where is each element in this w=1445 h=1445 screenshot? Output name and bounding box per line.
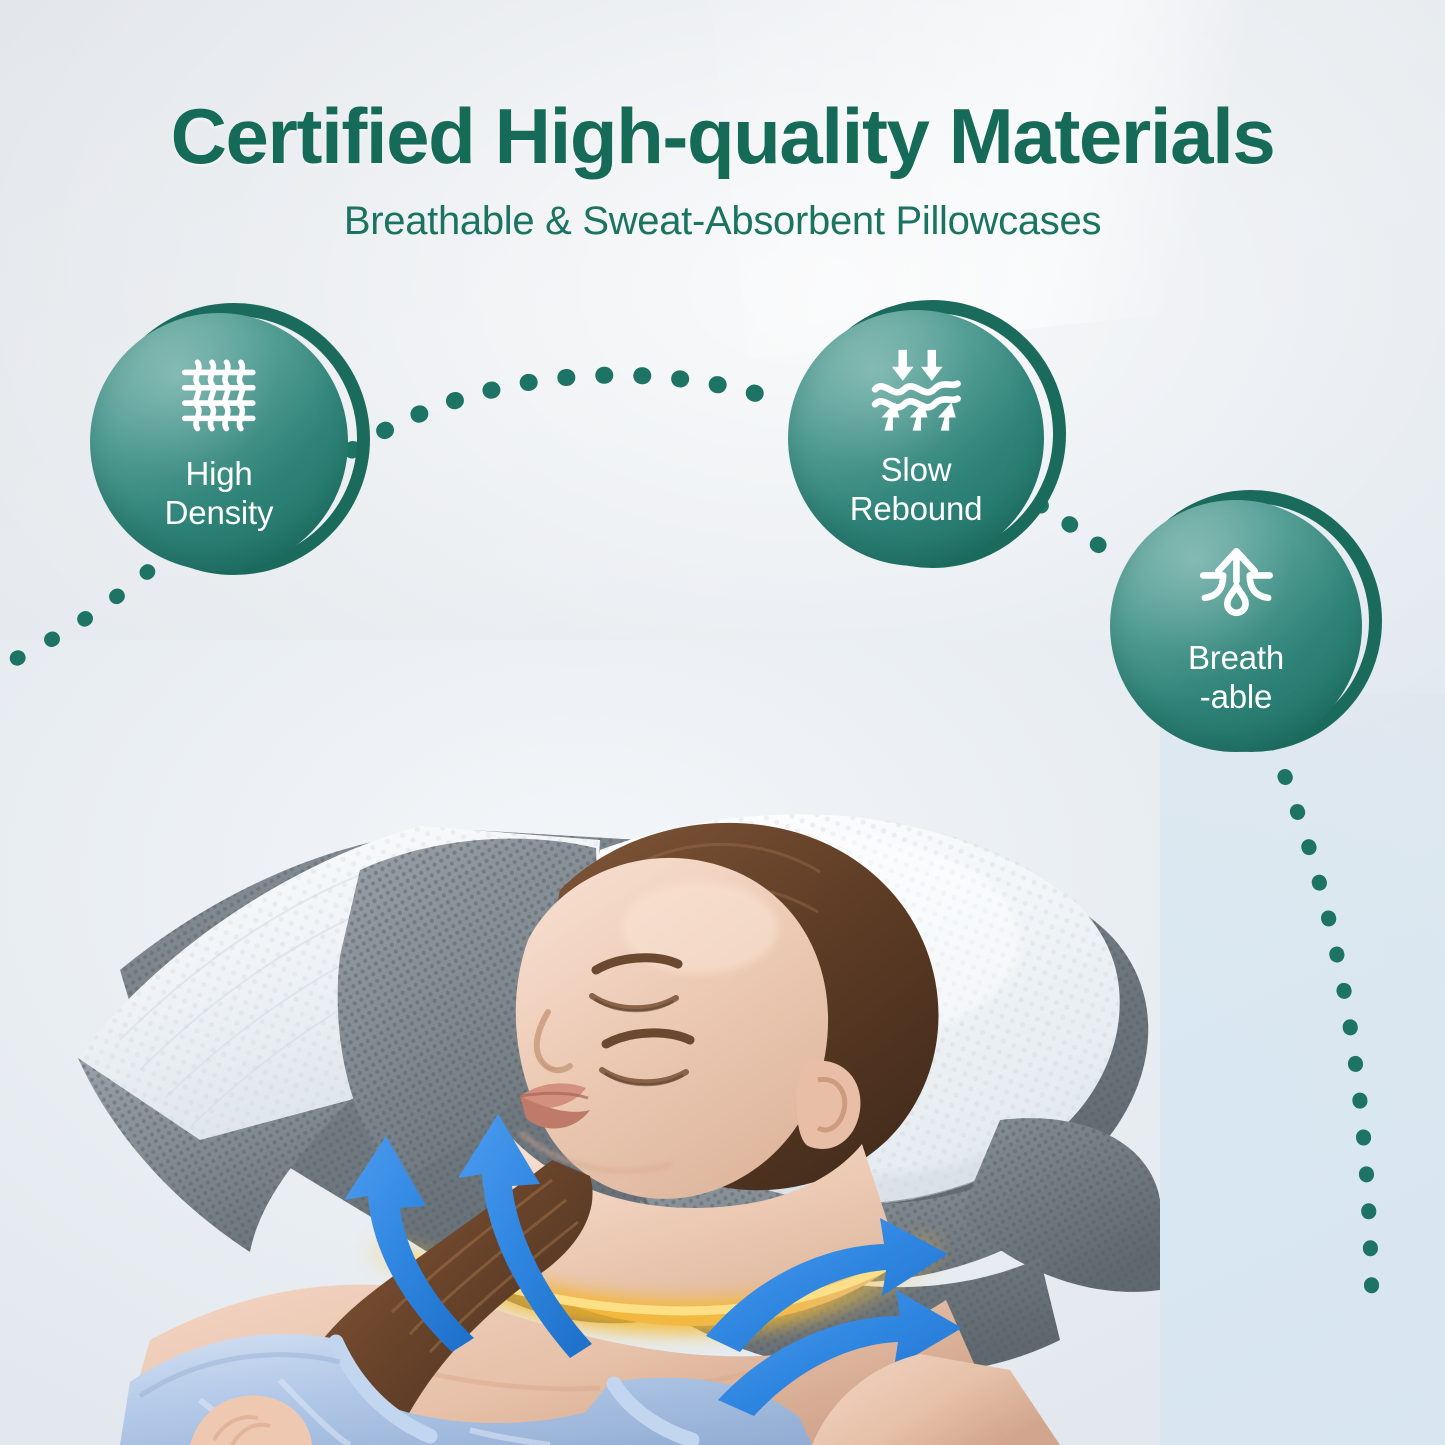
badge-label-line2: -able <box>1200 678 1272 715</box>
badge-label-line2: Rebound <box>850 490 983 527</box>
badge-high-density[interactable]: High Density <box>90 303 362 575</box>
badge-label: Slow Rebound <box>850 451 983 529</box>
headline-block: Certified High-quality Materials Breatha… <box>0 96 1445 244</box>
badge-label: High Density <box>165 455 274 533</box>
badge-disc: Slow Rebound <box>788 310 1044 566</box>
product-feature-graphic: Certified High-quality Materials Breatha… <box>0 0 1445 1445</box>
badge-label-line1: High <box>185 455 252 492</box>
badge-label-line2: Density <box>165 494 274 531</box>
badge-disc: High Density <box>90 313 348 571</box>
badge-disc: Breath -able <box>1110 500 1362 752</box>
airflow-moisture-icon <box>1181 538 1292 621</box>
page-title: Certified High-quality Materials <box>0 96 1445 177</box>
badge-label-line1: Slow <box>881 451 952 488</box>
badge-label-line1: Breath <box>1188 639 1284 676</box>
compression-rebound-icon <box>860 348 973 432</box>
badge-breathable[interactable]: Breath -able <box>1110 490 1378 758</box>
dotted-trail-breathable-descend <box>1272 742 1372 1312</box>
page-subtitle: Breathable & Sweat-Absorbent Pillowcases <box>0 199 1445 244</box>
woven-fabric-icon <box>162 352 276 437</box>
badge-slow-rebound[interactable]: Slow Rebound <box>788 300 1060 572</box>
badge-label: Breath -able <box>1188 639 1284 717</box>
product-lifestyle-photo: Woman sleeping on her back on a contoure… <box>0 640 1160 1445</box>
dotted-connector-density-to-rebound <box>352 375 790 450</box>
